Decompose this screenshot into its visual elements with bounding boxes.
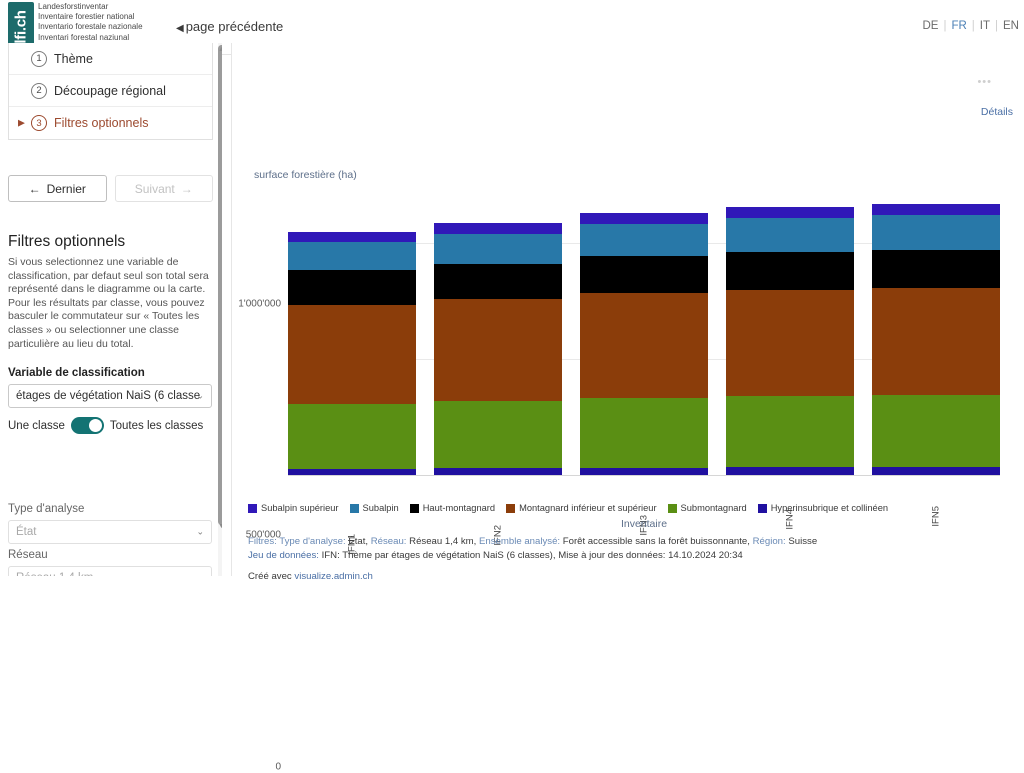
dataset-label: Jeu de données: [248,550,319,561]
language-switcher[interactable]: DE|FR|IT|EN [917,20,1024,32]
legend-label: Subalpin supérieur [261,503,339,513]
filter-set-value: Forêt accessible sans la forêt buissonna… [563,536,750,547]
more-options-icon[interactable]: ••• [977,76,992,88]
bar-segment[interactable] [872,395,1000,467]
previous-page-link[interactable]: ◀page précédente [176,19,283,34]
sidebar-step-theme[interactable]: 1 Thème [9,43,212,75]
legend-swatch [350,504,359,513]
title-fr: Inventaire forestier national [38,12,143,22]
y-axis-title: surface forestière (ha) [254,169,357,181]
legend-item[interactable]: Haut-montagnard [410,503,495,513]
footer-filters-row: Filtres: Type d'analyse: État, Réseau: R… [248,535,1008,549]
previous-step-label: Dernier [47,182,86,196]
arrow-right-icon: → [181,182,193,196]
previous-step-button[interactable]: ← Dernier [8,175,107,202]
sidebar: 1 Thème 2 Découpage régional ▶ 3 Filtres… [0,43,222,576]
lang-it[interactable]: IT [975,20,995,32]
network-select: Réseau 1,4 km ⌄ [8,566,212,576]
bar-segment[interactable] [580,468,708,475]
legend-swatch [248,504,257,513]
sidebar-step-filters[interactable]: ▶ 3 Filtres optionnels [9,107,212,139]
bar-segment[interactable] [872,288,1000,395]
visualize-admin-link[interactable]: visualize.admin.ch [294,571,372,582]
network-value: Réseau 1,4 km [16,572,93,576]
bar-segment[interactable] [580,398,708,468]
credit-prefix: Créé avec [248,571,294,582]
bar-segment[interactable] [434,264,562,300]
analysis-type-value: État [16,526,36,538]
chevron-down-icon: ⌄ [196,391,204,402]
step-number: 3 [31,115,47,131]
step-number: 2 [31,83,47,99]
filter-network-value: Réseau 1,4 km, [409,536,476,547]
filter-analysis-value: État, [348,536,368,547]
bar-segment[interactable] [872,215,1000,250]
toggle-label-one-class: Une classe [8,420,65,432]
legend-item[interactable]: Submontagnard [668,503,747,513]
right-caret-icon: ▶ [18,118,25,129]
classification-variable-label: Variable de classification [8,367,145,379]
legend-swatch [506,504,515,513]
bar-segment[interactable] [580,293,708,398]
bar-segment[interactable] [434,234,562,264]
legend-item[interactable]: Hyperinsubrique et collinéen [758,503,888,513]
class-mode-toggle-row: Une classe Toutes les classes [8,417,203,434]
bar-segment[interactable] [726,467,854,475]
filter-region-label: Région: [753,536,786,547]
footer-dataset-row: Jeu de données: IFN: Thème par étages de… [248,549,1008,563]
bar-segment[interactable] [872,467,1000,475]
bar-segment[interactable] [434,468,562,475]
toggle-label-all-classes: Toutes les classes [110,420,203,432]
legend-swatch [410,504,419,513]
scroll-up-icon[interactable]: ▲ [218,46,222,53]
y-axis-tick-label: 1'000'000 [238,298,281,309]
bar-segment[interactable] [726,396,854,467]
bar-segment[interactable] [288,270,416,305]
legend-label: Montagnard inférieur et supérieur [519,503,656,513]
arrow-left-icon: ← [29,182,41,196]
bar-segment[interactable] [288,404,416,468]
dataset-value: IFN: Thème par étages de végétation NaiS… [322,550,743,561]
legend-item[interactable]: Subalpin [350,503,399,513]
toggle-knob [89,419,102,432]
title-de: Landesforstinventar [38,2,143,12]
legend-swatch [758,504,767,513]
analysis-type-select: État ⌄ [8,520,212,544]
legend-swatch [668,504,677,513]
bar-segment[interactable] [872,250,1000,288]
bar-segment[interactable] [580,213,708,224]
step-label: Thème [54,52,93,66]
chart-legend: Subalpin supérieurSubalpinHaut-montagnar… [248,503,1018,513]
bar-segment[interactable] [580,224,708,256]
sidebar-scrollbar-thumb[interactable] [218,45,222,525]
chart-plot-area: 0500'0001'000'000 IFN1IFN2IFN3IFN4IFN5 I… [288,183,1000,475]
legend-label: Subalpin [363,503,399,513]
filter-set-label: Ensemble analysé: [479,536,560,547]
bar-ifn1[interactable]: IFN1 [288,232,416,475]
classification-variable-value: étages de végétation NaiS (6 classe [16,390,200,402]
bar-segment[interactable] [288,242,416,270]
filters-label: Filtres: [248,536,277,547]
step-list: 1 Thème 2 Découpage régional ▶ 3 Filtres… [8,43,213,140]
legend-label: Hyperinsubrique et collinéen [771,503,888,513]
next-step-button: Suivant → [115,175,214,202]
x-axis-title: Inventaire [288,518,1000,530]
legend-label: Haut-montagnard [423,503,495,513]
details-link[interactable]: Détails [981,106,1013,118]
bar-segment[interactable] [580,256,708,293]
sidebar-step-region[interactable]: 2 Découpage régional [9,75,212,107]
filter-analysis-label: Type d'analyse: [279,536,345,547]
lang-fr[interactable]: FR [946,20,971,32]
analysis-type-label: Type d'analyse [8,503,84,515]
bar-ifn4[interactable]: IFN4 [726,207,854,475]
step-number: 1 [31,51,47,67]
bar-segment[interactable] [434,401,562,468]
wizard-navigation: ← Dernier Suivant → [8,175,213,202]
bar-series-container: IFN1IFN2IFN3IFN4IFN5 [288,183,1000,475]
next-step-label: Suivant [135,182,175,196]
left-caret-icon: ◀ [176,23,184,34]
panel-title: Filtres optionnels [8,233,125,251]
step-label: Découpage régional [54,84,166,98]
bar-segment[interactable] [434,223,562,233]
network-label: Réseau [8,549,48,561]
bar-segment[interactable] [288,232,416,242]
bar-segment[interactable] [726,218,854,252]
filter-region-value: Suisse [788,536,817,547]
bar-segment[interactable] [434,299,562,401]
filter-network-label: Réseau: [371,536,407,547]
x-axis-line [288,475,1000,476]
bar-segment[interactable] [726,252,854,290]
step-label: Filtres optionnels [54,116,149,130]
bar-ifn3[interactable]: IFN3 [580,213,708,475]
bar-segment[interactable] [726,207,854,218]
chart-footer-filters: Filtres: Type d'analyse: État, Réseau: R… [248,535,1008,563]
chevron-down-icon: ⌄ [196,573,204,577]
y-axis-tick-label: 0 [275,762,281,773]
title-rm: Inventari forestal naziunal [38,33,143,43]
legend-item[interactable]: Subalpin supérieur [248,503,339,513]
title-it: Inventario forestale nazionale [38,22,143,32]
panel-description: Si vous selectionnez une variable de cla… [8,256,214,351]
bar-segment[interactable] [872,204,1000,215]
logo-text: lfi.ch [13,10,30,43]
credit-line: Créé avec visualize.admin.ch [248,571,373,582]
bar-ifn5[interactable]: IFN5 [872,204,1000,475]
bar-segment[interactable] [726,290,854,396]
chart-panel: ••• Détails surface forestière (ha) 0500… [232,43,1024,576]
lang-de[interactable]: DE [917,20,943,32]
bar-segment[interactable] [288,469,416,475]
lang-en[interactable]: EN [998,20,1024,32]
previous-page-label: page précédente [186,19,284,34]
bar-segment[interactable] [288,305,416,404]
legend-label: Submontagnard [681,503,747,513]
chevron-down-icon: ⌄ [196,527,204,538]
legend-item[interactable]: Montagnard inférieur et supérieur [506,503,656,513]
bar-ifn2[interactable]: IFN2 [434,223,562,475]
classification-variable-select[interactable]: étages de végétation NaiS (6 classe ⌄ [8,384,212,408]
class-mode-toggle[interactable] [71,417,104,434]
scroll-down-icon[interactable]: ▼ [218,523,222,530]
